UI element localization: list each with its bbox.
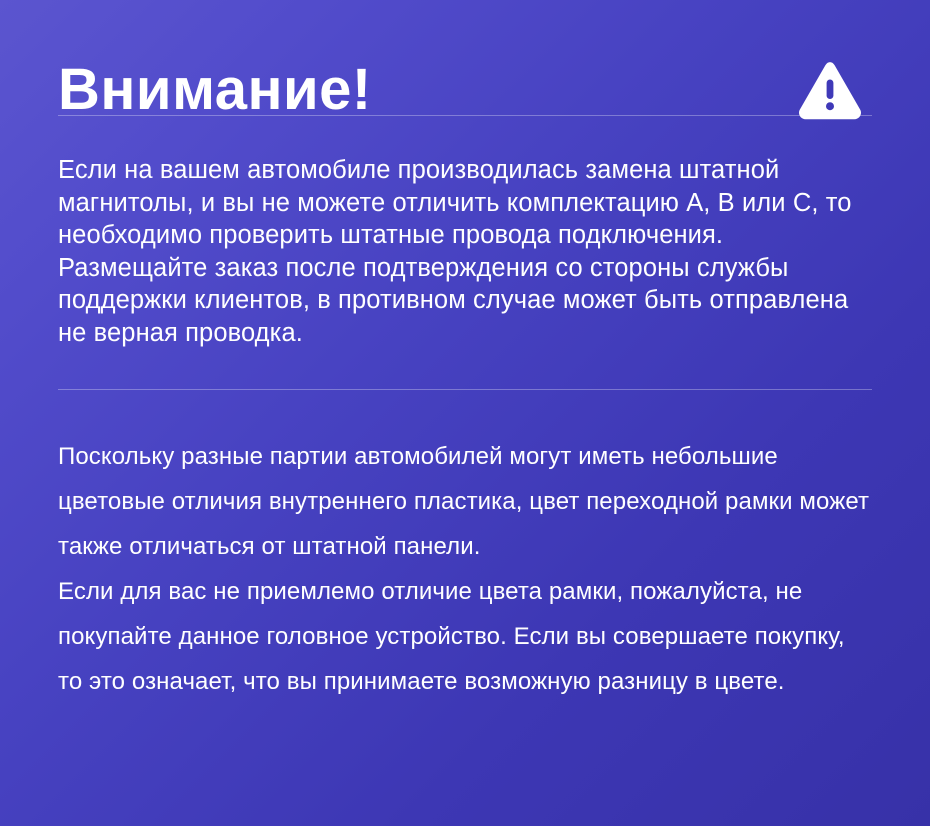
attention-notice-panel: Внимание! Если на вашем автомобиле произ…	[0, 0, 930, 826]
section-wiring-warning: Если на вашем автомобиле производилась з…	[58, 116, 872, 389]
wiring-warning-text: Если на вашем автомобиле производилась з…	[58, 154, 858, 349]
page-title: Внимание!	[58, 58, 372, 122]
section-color-difference-warning: Поскольку разные партии автомобилей могу…	[58, 390, 872, 704]
warning-triangle-icon	[798, 62, 862, 120]
notice-header: Внимание!	[58, 0, 872, 115]
color-difference-text-2: Если для вас не приемлемо отличие цвета …	[58, 569, 872, 704]
color-difference-text-1: Поскольку разные партии автомобилей могу…	[58, 434, 872, 569]
